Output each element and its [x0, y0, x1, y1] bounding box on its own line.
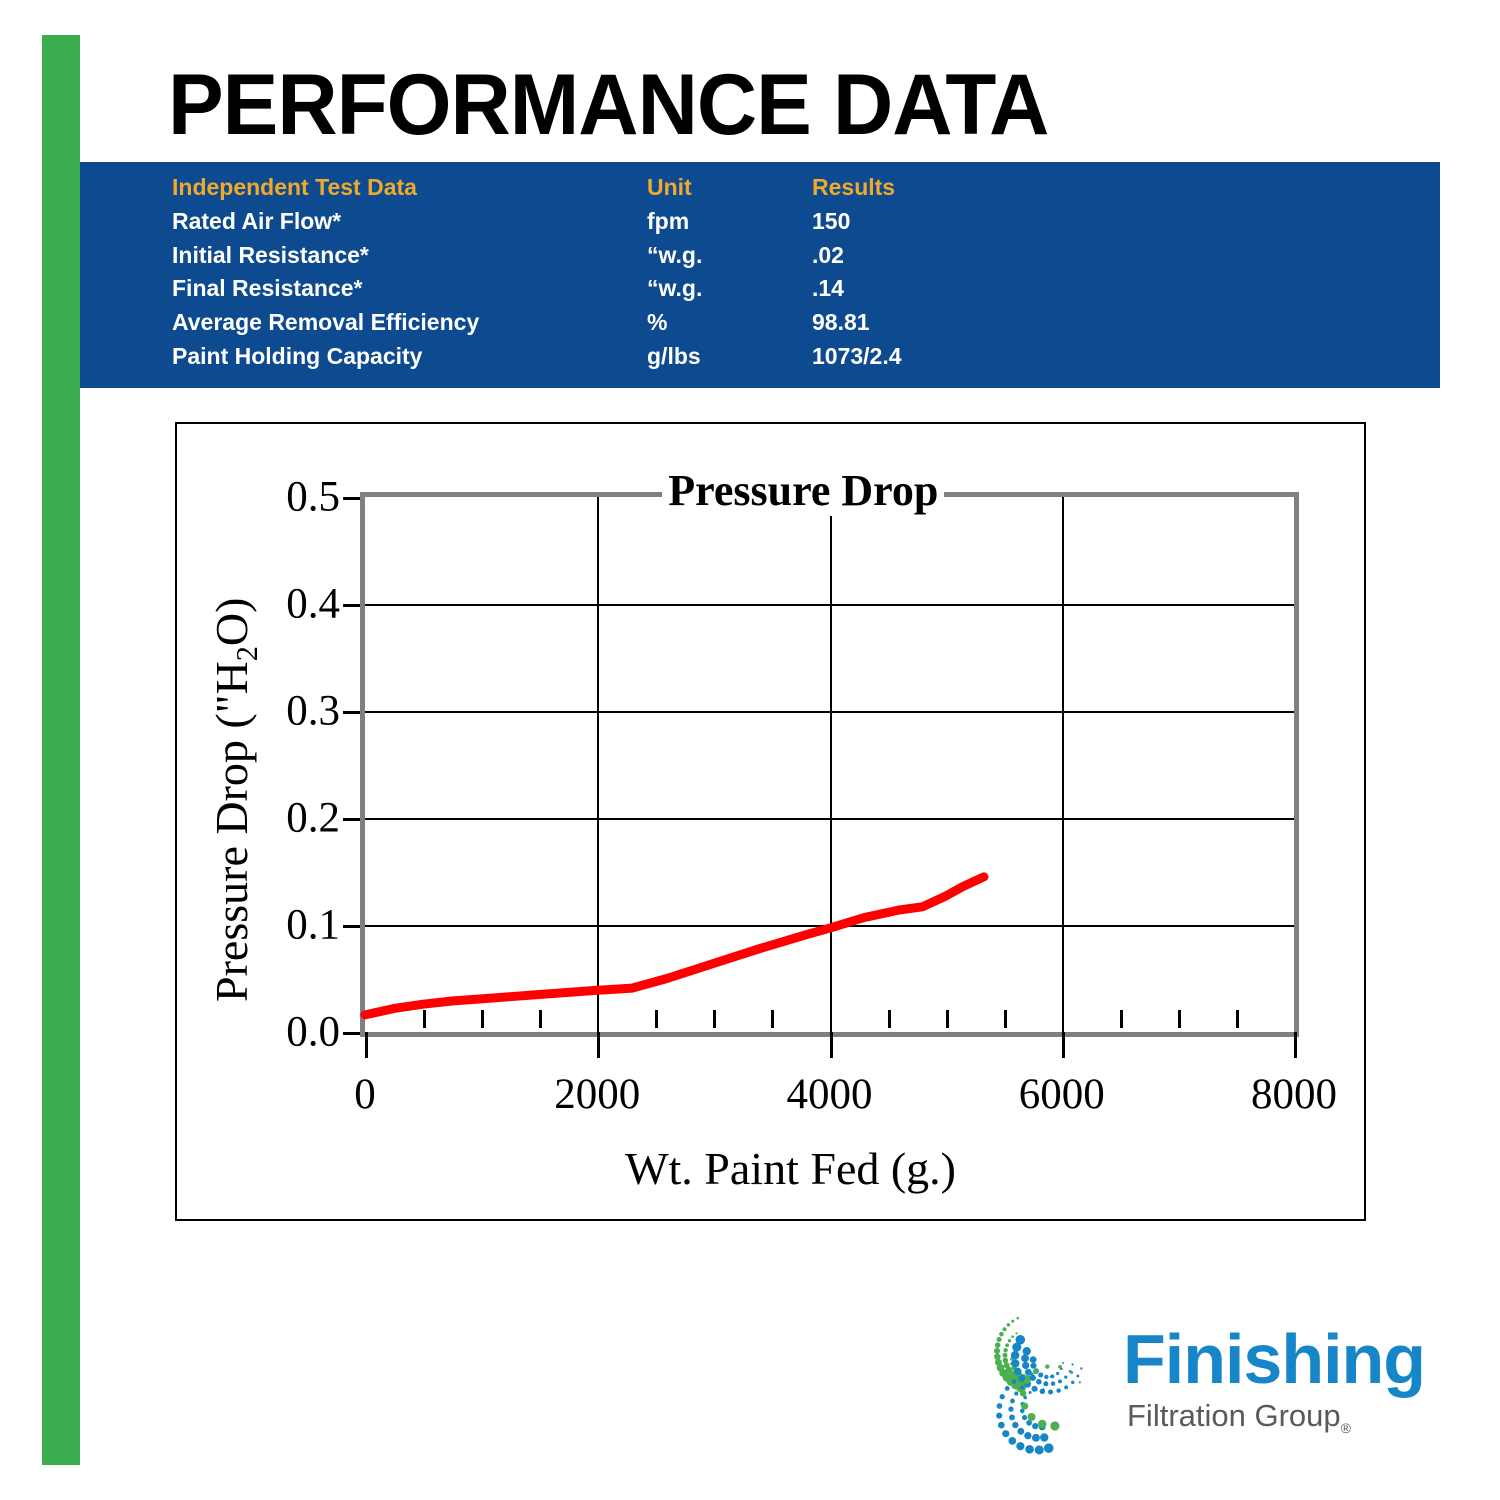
cell-name: Rated Air Flow*	[172, 209, 647, 243]
cell-name: Initial Resistance*	[172, 243, 647, 277]
x-tick-mark-minor	[539, 1010, 542, 1028]
data-series-line	[365, 497, 1294, 1032]
x-tick-mark-major	[830, 1032, 833, 1058]
plot-area	[360, 492, 1299, 1037]
y-tick-mark	[343, 604, 360, 607]
column-header-results: Results	[812, 175, 1012, 209]
accent-bar-green	[42, 35, 80, 1465]
cell-result: 150	[812, 209, 1012, 243]
x-tick-mark-minor	[1236, 1010, 1239, 1028]
swirl-logo-icon	[975, 1300, 1110, 1470]
cell-unit: “w.g.	[647, 243, 812, 277]
page-title: PERFORMANCE DATA	[168, 62, 1048, 148]
x-tick-mark-minor	[713, 1010, 716, 1028]
y-tick-label: 0.5	[230, 473, 340, 522]
column-header-unit: Unit	[647, 175, 812, 209]
x-tick-mark-minor	[1178, 1010, 1181, 1028]
x-tick-mark-major	[365, 1032, 368, 1058]
x-tick-mark-minor	[1120, 1010, 1123, 1028]
company-logo: Finishing Filtration Group®	[975, 1300, 1415, 1470]
table-header-row: Independent Test Data Unit Results	[172, 175, 1012, 209]
x-tick-mark-minor	[423, 1010, 426, 1028]
table-row: Paint Holding Capacity g/lbs 1073/2.4	[172, 344, 1012, 378]
cell-unit: fpm	[647, 209, 812, 243]
y-tick-label: 0.3	[230, 687, 340, 736]
y-tick-label: 0.0	[230, 1008, 340, 1057]
cell-result: .14	[812, 276, 1012, 310]
table-row: Initial Resistance* “w.g. .02	[172, 243, 1012, 277]
spec-panel: Independent Test Data Unit Results Rated…	[80, 162, 1440, 388]
cell-unit: %	[647, 310, 812, 344]
x-tick-mark-major	[597, 1032, 600, 1058]
x-axis-title: Wt. Paint Fed (g.)	[625, 1142, 956, 1195]
x-tick-mark-minor	[1004, 1010, 1007, 1028]
y-tick-label: 0.4	[230, 580, 340, 629]
y-tick-mark	[343, 925, 360, 928]
y-tick-label: 0.2	[230, 794, 340, 843]
logo-subtitle: Filtration Group®	[1127, 1400, 1351, 1435]
x-tick-label: 0	[275, 1070, 455, 1119]
cell-unit: g/lbs	[647, 344, 812, 378]
chart-container: Pressure Drop ("H2O) 0.00.10.20.30.40.5 …	[175, 422, 1366, 1221]
cell-name: Average Removal Efficiency	[172, 310, 647, 344]
cell-result: 98.81	[812, 310, 1012, 344]
x-tick-mark-minor	[946, 1010, 949, 1028]
cell-result: 1073/2.4	[812, 344, 1012, 378]
y-tick-mark	[343, 497, 360, 500]
independent-test-data-table: Independent Test Data Unit Results Rated…	[172, 175, 1012, 378]
cell-name: Paint Holding Capacity	[172, 344, 647, 378]
x-tick-label: 2000	[507, 1070, 687, 1119]
y-tick-mark	[343, 711, 360, 714]
x-tick-mark-minor	[771, 1010, 774, 1028]
logo-wordmark: Finishing	[1123, 1324, 1425, 1394]
x-tick-mark-minor	[888, 1010, 891, 1028]
performance-data-sheet: PERFORMANCE DATA Independent Test Data U…	[0, 0, 1500, 1500]
y-tick-label: 0.1	[230, 901, 340, 950]
cell-unit: “w.g.	[647, 276, 812, 310]
x-tick-label: 6000	[972, 1070, 1152, 1119]
chart-title: Pressure Drop	[662, 465, 944, 516]
column-header-name: Independent Test Data	[172, 175, 647, 209]
table-row: Average Removal Efficiency % 98.81	[172, 310, 1012, 344]
cell-result: .02	[812, 243, 1012, 277]
x-tick-mark-major	[1294, 1032, 1297, 1058]
y-tick-mark	[343, 1032, 360, 1035]
cell-name: Final Resistance*	[172, 276, 647, 310]
x-tick-label: 8000	[1204, 1070, 1384, 1119]
x-tick-label: 4000	[740, 1070, 920, 1119]
x-tick-mark-minor	[655, 1010, 658, 1028]
y-tick-mark	[343, 818, 360, 821]
x-tick-mark-major	[1062, 1032, 1065, 1058]
table-row: Rated Air Flow* fpm 150	[172, 209, 1012, 243]
x-tick-mark-minor	[481, 1010, 484, 1028]
table-row: Final Resistance* “w.g. .14	[172, 276, 1012, 310]
